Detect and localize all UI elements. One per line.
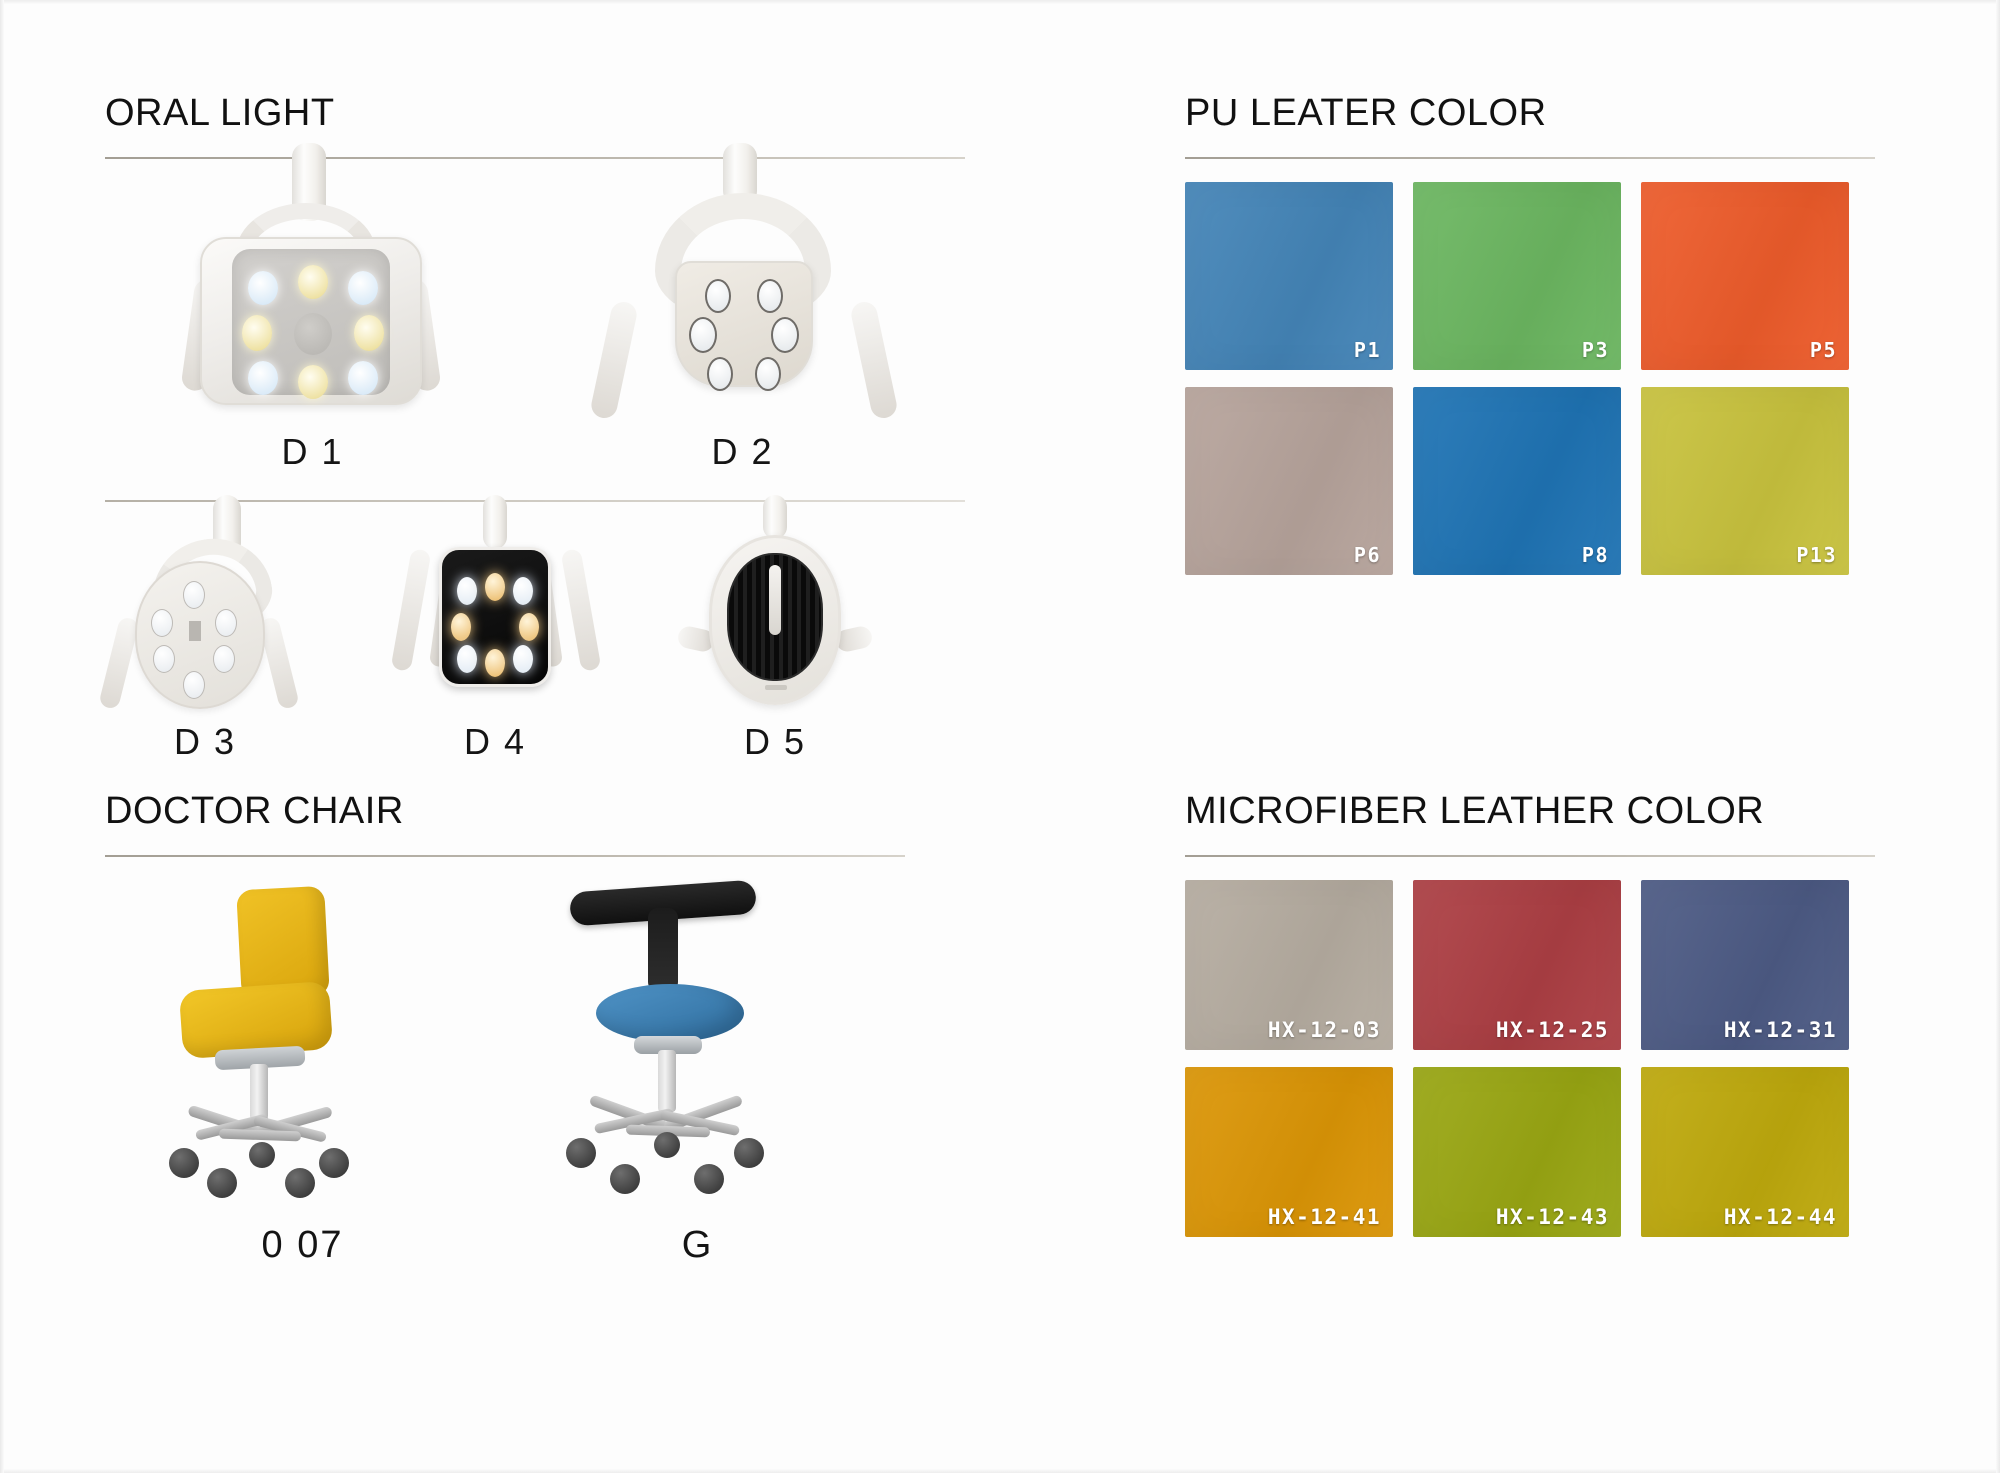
swatch-p3[interactable]: P3 <box>1413 182 1621 370</box>
swatch-hx-12-44[interactable]: HX-12-44 <box>1641 1067 1849 1237</box>
chair-item-007[interactable]: 0 07 <box>153 880 453 1267</box>
pu-leather-swatch-grid: P1 P3 P5 P6 P8 P13 <box>1185 182 1875 575</box>
oral-light-row-1: D 1 D 2 <box>105 175 965 473</box>
lamp-image-d2 <box>593 175 893 425</box>
microfiber-divider <box>1185 855 1875 857</box>
swatch-code-p13: P13 <box>1796 543 1849 575</box>
doctor-chair-title: DOCTOR CHAIR <box>105 790 905 833</box>
lamp-image-d4 <box>395 525 595 715</box>
catalog-page: ORAL LIGHT <box>0 0 2000 1473</box>
swatch-p6[interactable]: P6 <box>1185 387 1393 575</box>
chair-label-g: G <box>682 1224 714 1267</box>
lamp-label-d5: D 5 <box>744 721 806 763</box>
lamp-item-d1[interactable]: D 1 <box>178 175 448 473</box>
page-edge-left <box>0 0 4 1473</box>
chair-label-007: 0 07 <box>262 1224 344 1267</box>
swatch-hx-12-03[interactable]: HX-12-03 <box>1185 880 1393 1050</box>
oral-light-divider <box>105 157 965 159</box>
doctor-chair-section-header: DOCTOR CHAIR <box>105 790 905 857</box>
microfiber-title: MICROFIBER LEATHER COLOR <box>1185 790 1875 833</box>
swatch-hx-12-41[interactable]: HX-12-41 <box>1185 1067 1393 1237</box>
lamp-label-d3: D 3 <box>174 721 236 763</box>
oral-light-title: ORAL LIGHT <box>105 92 965 135</box>
swatch-code-hx-12-03: HX-12-03 <box>1268 1018 1393 1050</box>
lamp-label-d1: D 1 <box>281 431 343 473</box>
swatch-code-p6: P6 <box>1354 543 1393 575</box>
swatch-code-hx-12-25: HX-12-25 <box>1496 1018 1621 1050</box>
oral-light-section-header: ORAL LIGHT <box>105 92 965 159</box>
pu-leather-section-header: PU LEATER COLOR <box>1185 92 1875 159</box>
lamp-item-d2[interactable]: D 2 <box>593 175 893 473</box>
doctor-chair-divider <box>105 855 905 857</box>
swatch-code-p3: P3 <box>1582 338 1621 370</box>
lamp-label-d4: D 4 <box>464 721 526 763</box>
swatch-p1[interactable]: P1 <box>1185 182 1393 370</box>
lamp-image-d5 <box>685 525 865 715</box>
pu-leather-title: PU LEATER COLOR <box>1185 92 1875 135</box>
left-column: ORAL LIGHT <box>105 0 985 1473</box>
swatch-code-hx-12-41: HX-12-41 <box>1268 1205 1393 1237</box>
swatch-p13[interactable]: P13 <box>1641 387 1849 575</box>
doctor-chair-row: 0 07 <box>105 880 895 1267</box>
chair-item-g[interactable]: G <box>548 880 848 1267</box>
swatch-code-p8: P8 <box>1582 543 1621 575</box>
lamp-item-d4[interactable]: D 4 <box>395 525 595 763</box>
lamp-label-d2: D 2 <box>711 431 773 473</box>
swatch-code-hx-12-31: HX-12-31 <box>1724 1018 1849 1050</box>
swatch-p5[interactable]: P5 <box>1641 182 1849 370</box>
lamp-image-d3 <box>105 525 305 715</box>
swatch-code-hx-12-44: HX-12-44 <box>1724 1205 1849 1237</box>
swatch-hx-12-43[interactable]: HX-12-43 <box>1413 1067 1621 1237</box>
microfiber-swatch-grid: HX-12-03 HX-12-25 HX-12-31 HX-12-41 HX-1… <box>1185 880 1875 1237</box>
swatch-code-hx-12-43: HX-12-43 <box>1496 1205 1621 1237</box>
right-column: PU LEATER COLOR P1 P3 P5 P6 P8 P13 <box>1185 0 1975 1473</box>
lamp-item-d3[interactable]: D 3 <box>105 525 305 763</box>
lamp-item-d5[interactable]: D 5 <box>685 525 865 763</box>
pu-leather-divider <box>1185 157 1875 159</box>
swatch-p8[interactable]: P8 <box>1413 387 1621 575</box>
page-edge-right <box>1996 0 2000 1473</box>
swatch-code-p5: P5 <box>1810 338 1849 370</box>
microfiber-section-header: MICROFIBER LEATHER COLOR <box>1185 790 1875 857</box>
swatch-hx-12-31[interactable]: HX-12-31 <box>1641 880 1849 1050</box>
chair-image-007 <box>153 880 453 1210</box>
lamp-image-d1 <box>178 175 448 425</box>
oral-light-row-2: D 3 <box>105 525 865 763</box>
swatch-code-p1: P1 <box>1354 338 1393 370</box>
swatch-hx-12-25[interactable]: HX-12-25 <box>1413 880 1621 1050</box>
chair-image-g <box>548 880 848 1210</box>
